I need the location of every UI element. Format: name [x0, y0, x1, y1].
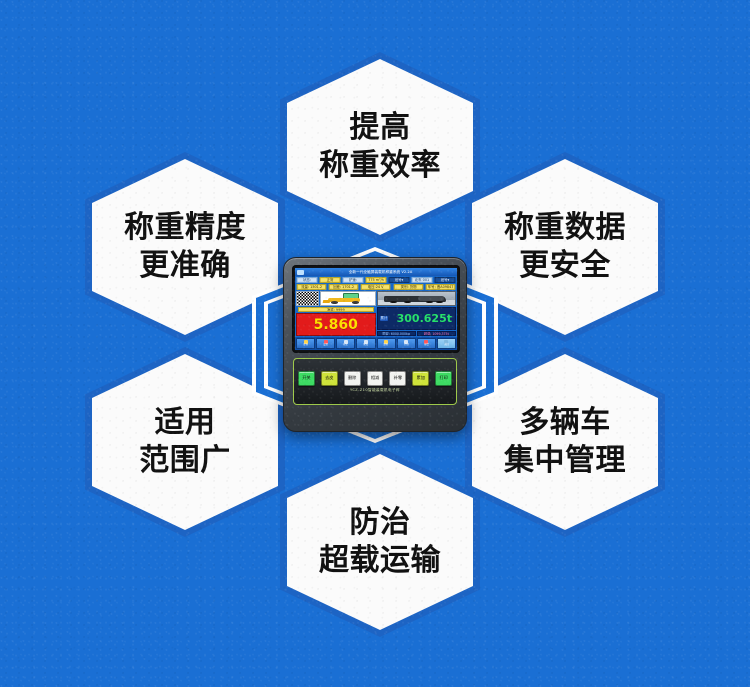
toolbar-label-alarm: 报警: [424, 345, 429, 347]
left-pane-top: [296, 291, 376, 306]
screen-info-row-2: 流量: 1501.2 回差: 1701.2 电压:24 V 类别: 货物 车号:…: [295, 283, 457, 290]
hex-inner-lower-left: 适用 范围广: [92, 354, 278, 530]
toolbar-button-calib[interactable]: 标定: [336, 338, 355, 349]
weighing-terminal-device[interactable]: 全新一代全触屏装载机称重系统 V2.2A 状态: 正常 铲速: 775 m³/h…: [283, 257, 467, 432]
truck-photo: [377, 291, 457, 306]
toolbar-label-print: 打印: [404, 345, 409, 347]
info-category: 类别: 货物: [393, 284, 423, 290]
hex-label-upper-left-line2: 更准确: [139, 247, 231, 285]
poster-canvas: 提高 称重效率 称重精度 更准确 称重数据 更安全 适用 范围广 多辆车 集中管…: [0, 0, 750, 687]
info-plate: 车号: 晋A09847: [426, 284, 456, 290]
info-rate-value: 775 m³/h: [366, 277, 387, 283]
toolbar-button-accum[interactable]: 累加: [356, 338, 375, 349]
hex-label-lower-right-line1: 多辆车: [519, 404, 611, 442]
hex-label-lower-right-line2: 集中管理: [504, 442, 626, 480]
overload-load-text: 超载: 1099.375t: [417, 331, 456, 336]
toolbar-button-alarm[interactable]: 报警: [417, 338, 436, 349]
screen-toolbar: 查询 设置 标定 累加 清零 打印 报警 返回: [295, 337, 457, 350]
loader-bucket-shape: [323, 300, 331, 303]
device-key-row: 开关 去皮 删除 相减 补零 累加 打印: [298, 371, 452, 386]
hex-inner-upper-right: 称重数据 更安全: [472, 159, 658, 335]
hex-inner-lower-right: 多辆车 集中管理: [472, 354, 658, 530]
hex-inner-upper-left: 称重精度 更准确: [92, 159, 278, 335]
app-logo-icon: [297, 270, 304, 275]
hex-label-top-line1: 提高: [350, 109, 411, 147]
total-weight-value: 300.625t: [397, 313, 452, 324]
total-weight-display: 累计 300.625t: [377, 307, 457, 330]
hex-label-upper-left-line1: 称重精度: [124, 209, 246, 247]
hex-inner-top: 提高 称重效率: [287, 59, 473, 235]
device-screen[interactable]: 全新一代全触屏装载机称重系统 V2.2A 状态: 正常 铲速: 775 m³/h…: [295, 268, 457, 350]
device-brand-text: YCZ-Z10智能装载机电子秤: [350, 388, 400, 393]
toolbar-label-accum: 累加: [364, 345, 369, 347]
hex-label-upper-right-line2: 更安全: [519, 247, 611, 285]
toolbar-button-query[interactable]: 查询: [296, 338, 315, 349]
key-accumulate[interactable]: 累加: [412, 371, 429, 386]
toolbar-label-zero: 清零: [384, 345, 389, 347]
hex-label-upper-right-line1: 称重数据: [504, 209, 626, 247]
photo-wheel-1: [390, 301, 397, 303]
info-status-label: 状态:: [297, 277, 318, 283]
net-weight-display: 5.860: [296, 313, 376, 336]
screen-info-row-1: 状态: 正常 铲速: 775 m³/h 班号▾ 北车 001 班号▾: [295, 276, 457, 283]
hex-cell-top[interactable]: 提高 称重效率: [280, 52, 480, 242]
info-return: 回差: 1701.2: [329, 284, 359, 290]
hex-cell-bottom[interactable]: 防治 超载运输: [280, 447, 480, 637]
screen-title-bar: 全新一代全触屏装载机称重系统 V2.2A: [295, 268, 457, 276]
key-zero[interactable]: 补零: [389, 371, 406, 386]
toolbar-label-back: 返回: [444, 345, 449, 347]
info-rate-label: 铲速:: [343, 277, 364, 283]
toolbar-label-calib: 标定: [343, 345, 348, 347]
info-flow: 流量: 1501.2: [297, 284, 327, 290]
key-subtract[interactable]: 相减: [367, 371, 384, 386]
info-voltage: 电压:24 V: [361, 284, 391, 290]
info-shift-value: 北车 001: [412, 277, 433, 283]
hex-label-bottom-line1: 防治: [350, 504, 411, 542]
device-keypad: 开关 去皮 删除 相减 补零 累加 打印 YCZ-Z10智能装载机电子秤: [293, 358, 457, 405]
loader-illustration: [320, 291, 376, 306]
toolbar-button-zero[interactable]: 清零: [377, 338, 396, 349]
net-weight-tag-row: 净重: 9999: [296, 307, 376, 312]
photo-wheel-3: [426, 301, 433, 303]
toolbar-label-query: 查询: [303, 345, 308, 347]
key-print[interactable]: 打印: [435, 371, 452, 386]
limit-load-text: 限载: 6000.000kg: [377, 331, 416, 336]
photo-wheel-4: [436, 301, 443, 303]
toolbar-label-setting: 设置: [323, 345, 328, 347]
screen-title-text: 全新一代全触屏装载机称重系统 V2.2A: [312, 269, 449, 275]
total-footer-row: 限载: 6000.000kg 超载: 1099.375t: [377, 331, 457, 336]
photo-wheel-2: [404, 301, 411, 303]
key-delete[interactable]: 删除: [344, 371, 361, 386]
key-tare[interactable]: 去皮: [321, 371, 338, 386]
hex-inner-bottom: 防治 超载运输: [287, 454, 473, 630]
screen-main-area: 净重: 9999 5.860: [295, 290, 457, 337]
net-weight-tag: 净重: 9999: [298, 307, 374, 312]
screen-right-pane: 累计 300.625t 限载: 6000.000kg 超载: 1099.375t: [377, 291, 457, 336]
loader-wheel-front-icon: [331, 301, 338, 304]
toolbar-button-back[interactable]: 返回: [437, 338, 456, 349]
loader-wheel-rear-icon: [352, 301, 359, 304]
hex-label-lower-left-line1: 适用: [155, 404, 216, 442]
qr-code-icon: [296, 291, 319, 306]
total-weight-label: 累计: [380, 316, 389, 322]
screen-left-pane: 净重: 9999 5.860: [296, 291, 376, 336]
hex-label-top-line2: 称重效率: [319, 147, 441, 185]
key-power[interactable]: 开关: [298, 371, 315, 386]
info-shift-label[interactable]: 班号▾: [389, 277, 410, 283]
hex-label-bottom-line2: 超载运输: [319, 542, 441, 580]
hex-label-lower-left-line2: 范围广: [139, 442, 231, 480]
toolbar-button-setting[interactable]: 设置: [316, 338, 335, 349]
toolbar-button-print[interactable]: 打印: [397, 338, 416, 349]
device-screen-bezel: 全新一代全触屏装载机称重系统 V2.2A 状态: 正常 铲速: 775 m³/h…: [292, 265, 460, 353]
info-status-value: 正常: [320, 277, 341, 283]
info-shift-label-2[interactable]: 班号▾: [435, 277, 456, 283]
